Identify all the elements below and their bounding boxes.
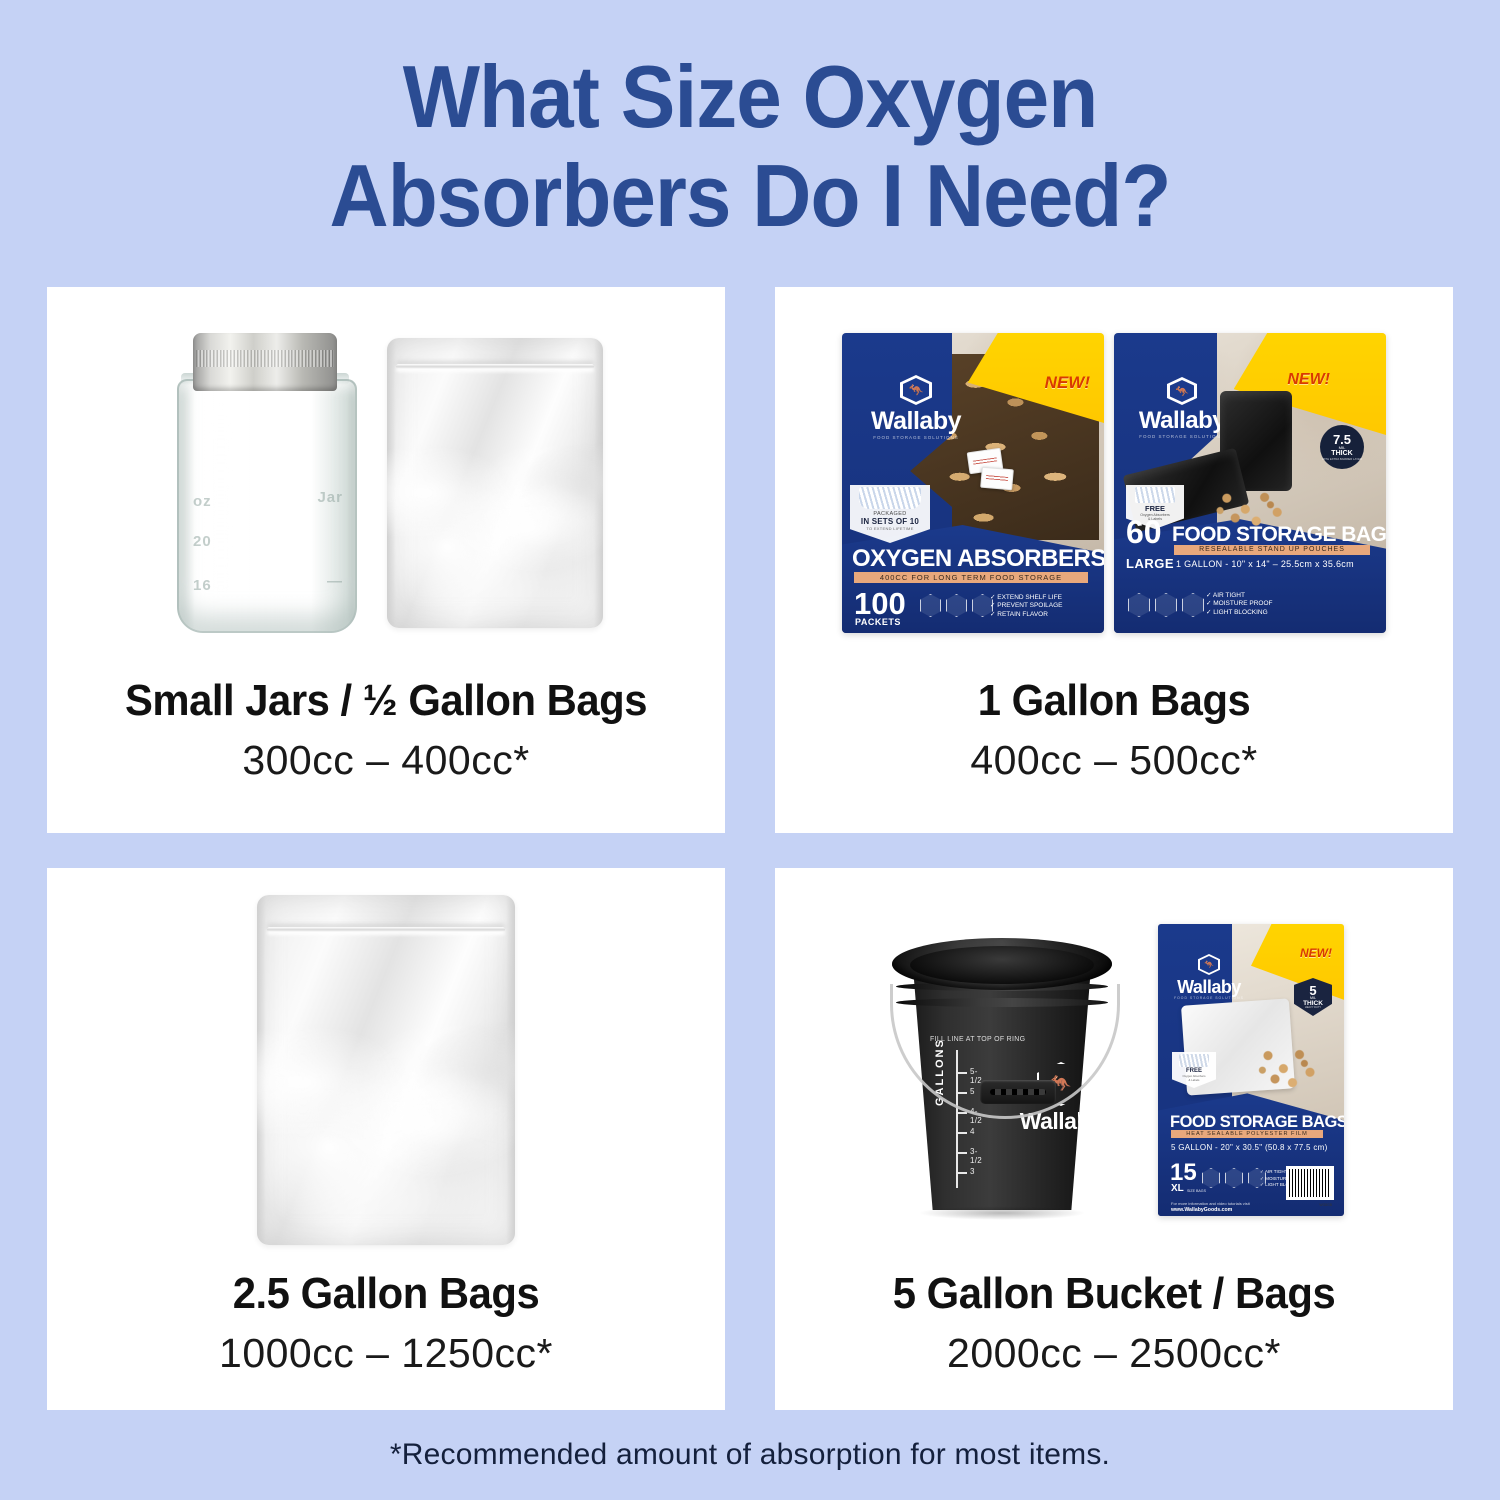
brand-name: Wallaby	[1174, 978, 1244, 996]
mason-jar: oz 20 16 Jar —	[169, 333, 361, 633]
card-amount: 300cc – 400cc*	[47, 740, 725, 781]
brand-tagline: FOOD STORAGE SOLUTIONS	[1174, 997, 1244, 1000]
card-amount: 2000cc – 2500cc*	[775, 1333, 1453, 1374]
badge-free-label: FREE	[1145, 504, 1165, 513]
thickness-label: THICK	[1331, 450, 1352, 457]
bullet-item: ✓ MOISTURE PROOF	[1206, 600, 1272, 609]
beans-photo	[1254, 1040, 1324, 1092]
new-flag-label: NEW!	[1300, 946, 1332, 960]
package-count: 100	[854, 590, 906, 619]
kangaroo-icon: 🦘	[1170, 380, 1194, 402]
feature-icons	[1202, 1168, 1266, 1188]
scale-tick	[956, 1152, 967, 1154]
feature-icons	[1128, 593, 1204, 617]
card-2-5-gallon-visual	[47, 868, 725, 1272]
feature-bullets: ✓ AIR TIGHT ✓ MOISTURE PROOF ✓ LIGHT BLO…	[1206, 592, 1272, 618]
card-small-jars-caption: Small Jars / ½ Gallon Bags 300cc – 400cc…	[47, 679, 725, 781]
label-sheet-icon	[1179, 1054, 1209, 1067]
label-sheet-icon	[1135, 487, 1175, 503]
pouch-edge-right	[594, 338, 603, 628]
sku-label: WG5GB	[1319, 1203, 1332, 1207]
size-guide-grid: oz 20 16 Jar — Small Jars / ½ Gallon Bag…	[47, 287, 1453, 1410]
wallaby-logo: 🦘 Wallaby FOOD STORAGE SOLUTIONS	[1136, 377, 1228, 440]
product-subtitle-bar: 400CC FOR LONG TERM FOOD STORAGE	[854, 572, 1088, 583]
bullet-item: ✓ AIR TIGHT	[1206, 592, 1272, 601]
jar-gloss	[213, 405, 229, 595]
card-title: 2.5 Gallon Bags	[64, 1272, 708, 1316]
card-one-gallon-visual: NEW! 🦘 Wallaby FOOD STORAGE SOLUTIONS PA…	[775, 287, 1453, 679]
pouch-edge-right	[506, 895, 515, 1245]
kangaroo-icon: 🦘	[903, 378, 929, 402]
pouch-edge-left	[257, 895, 266, 1245]
wallaby-logo: 🦘 Wallaby FOOD STORAGE SOLUTIONS	[1174, 954, 1244, 1000]
bullet-item: ✓ EXTEND SHELF LIFE	[990, 594, 1063, 603]
shelf-life-icon	[920, 594, 941, 617]
package-count: 15	[1170, 1162, 1197, 1184]
oxygen-absorbers-package: NEW! 🦘 Wallaby FOOD STORAGE SOLUTIONS PA…	[842, 333, 1104, 633]
brand-name: Wallaby	[868, 409, 964, 434]
thickness-badge: 7.5 MIL THICK WITH EXTRA BARRIER LAYER	[1320, 425, 1364, 469]
brand-name: Wallaby	[1136, 409, 1228, 433]
food-storage-bags-1gal-package: NEW! 🦘 Wallaby FOOD STORAGE SOLUTIONS 7.…	[1114, 333, 1386, 633]
scale-label: 3-1/2	[970, 1147, 982, 1165]
badge-line3: & Labels	[1189, 1078, 1200, 1082]
card-title: Small Jars / ½ Gallon Bags	[64, 679, 708, 723]
jar-embossing: 16	[193, 577, 212, 594]
page-title: What Size Oxygen Absorbers Do I Need?	[53, 48, 1448, 245]
card-five-gallon-bucket: FILL LINE AT TOP OF RING 5-1/2 5 4-1/2 4…	[775, 868, 1453, 1410]
air-tight-icon	[1128, 593, 1150, 617]
air-tight-icon	[1202, 1168, 1220, 1188]
jar-body: oz 20 16 Jar —	[177, 379, 357, 633]
bucket-shadow	[918, 1206, 1086, 1220]
card-small-jars-visual: oz 20 16 Jar —	[47, 287, 725, 679]
barcode-lines	[1289, 1169, 1331, 1197]
kangaroo-hex-icon: 🦘	[1167, 377, 1197, 405]
product-name: FOOD STORAGE BAGS	[1170, 1114, 1344, 1131]
scale-label: 4	[970, 1127, 975, 1136]
sachet-fan-icon	[859, 487, 921, 509]
scale-tick	[956, 1132, 967, 1134]
thickness-sub: HEAVY DUTY	[1305, 1007, 1321, 1010]
card-title: 5 Gallon Bucket / Bags	[792, 1272, 1436, 1316]
bullet-item: ✓ LIGHT BLOCKING	[1206, 609, 1272, 618]
kangaroo-hex-icon: 🦘	[900, 375, 932, 405]
bucket-interior	[910, 946, 1094, 984]
new-flag-label: NEW!	[1045, 373, 1090, 393]
bullet-item: ✓ RETAIN FLAVOR	[990, 611, 1063, 620]
product-subtitle-bar: HEAT SEALABLE POLYESTER FILM	[1171, 1130, 1323, 1138]
wallaby-logo: 🦘 Wallaby FOOD STORAGE SOLUTIONS	[868, 375, 964, 441]
package-size-sub: SIZE BAGS	[1187, 1189, 1206, 1193]
package-size-label: XL	[1171, 1183, 1184, 1194]
card-five-gallon-caption: 5 Gallon Bucket / Bags 2000cc – 2500cc*	[775, 1272, 1453, 1374]
mylar-pouch-large	[257, 895, 515, 1245]
website-note: For more information and video tutorials…	[1171, 1201, 1250, 1206]
brand-tagline: FOOD STORAGE SOLUTIONS	[868, 436, 964, 441]
card-amount: 1000cc – 1250cc*	[47, 1333, 725, 1374]
jar-embossing: —	[327, 573, 343, 590]
kangaroo-hex-icon: 🦘	[1198, 954, 1220, 975]
moisture-proof-icon	[1155, 593, 1177, 617]
product-subtitle-bar: RESEALABLE STAND UP POUCHES	[1174, 545, 1370, 555]
bullet-item: ✓ PREVENT SPOILAGE	[990, 602, 1063, 611]
card-one-gallon-caption: 1 Gallon Bags 400cc – 500cc*	[775, 679, 1453, 781]
package-count: 60	[1126, 518, 1162, 547]
card-five-gallon-visual: FILL LINE AT TOP OF RING 5-1/2 5 4-1/2 4…	[775, 868, 1453, 1272]
package-size-label: LARGE	[1126, 556, 1174, 571]
mylar-pouch-small	[387, 338, 603, 628]
barcode	[1286, 1166, 1334, 1200]
jar-embossing: 20	[193, 533, 212, 550]
new-flag-label: NEW!	[1287, 371, 1330, 389]
package-dimensions: 5 GALLON - 20" x 30.5" (50.8 x 77.5 cm)	[1171, 1143, 1328, 1152]
freshness-icon	[946, 594, 967, 617]
card-two-point-five-gallon-bags: 2.5 Gallon Bags 1000cc – 1250cc*	[47, 868, 725, 1410]
bucket-ring	[896, 998, 1108, 1007]
card-small-jars: oz 20 16 Jar — Small Jars / ½ Gallon Bag…	[47, 287, 725, 833]
absorber-sachet	[980, 467, 1014, 491]
card-title: 1 Gallon Bags	[792, 679, 1436, 723]
card-2-5-gallon-caption: 2.5 Gallon Bags 1000cc – 1250cc*	[47, 1272, 725, 1374]
jar-embossing: Jar	[317, 489, 343, 506]
card-amount: 400cc – 500cc*	[775, 740, 1453, 781]
scale-tick	[956, 1172, 967, 1174]
jar-embossing: oz	[193, 493, 212, 510]
light-blocking-icon	[1182, 593, 1204, 617]
jar-lid-icon	[193, 333, 337, 391]
product-name: OXYGEN ABSORBERS	[852, 547, 1104, 571]
footnote: *Recommended amount of absorption for mo…	[0, 1438, 1500, 1472]
black-bucket: FILL LINE AT TOP OF RING 5-1/2 5 4-1/2 4…	[884, 924, 1120, 1216]
scale-label: 3	[970, 1167, 975, 1176]
feature-bullets: ✓ EXTEND SHELF LIFE ✓ PREVENT SPOILAGE ✓…	[990, 594, 1063, 620]
badge-line3: TO EXTEND LIFETIME	[866, 526, 913, 531]
moisture-proof-icon	[1225, 1168, 1243, 1188]
card-one-gallon-bags: NEW! 🦘 Wallaby FOOD STORAGE SOLUTIONS PA…	[775, 287, 1453, 833]
kangaroo-icon: 🦘	[1200, 956, 1218, 973]
badge-line2: IN SETS OF 10	[861, 517, 919, 526]
bucket-grip	[980, 1080, 1056, 1104]
feature-icons	[920, 594, 993, 617]
food-storage-bags-5gal-package: NEW! 🦘 Wallaby FOOD STORAGE SOLUTIONS 5 …	[1158, 924, 1344, 1216]
package-dimensions: 1 GALLON - 10" x 14" – 25.5cm x 35.6cm	[1176, 559, 1354, 569]
pouch-edge-left	[387, 338, 396, 628]
brand-tagline: FOOD STORAGE SOLUTIONS	[1136, 435, 1228, 440]
package-count-unit: PACKETS	[855, 617, 901, 627]
product-name: FOOD STORAGE BAGS	[1172, 524, 1386, 545]
website-url: www.WallabyGoods.com	[1171, 1207, 1232, 1213]
thickness-sub: WITH EXTRA BARRIER LAYER	[1322, 458, 1362, 461]
